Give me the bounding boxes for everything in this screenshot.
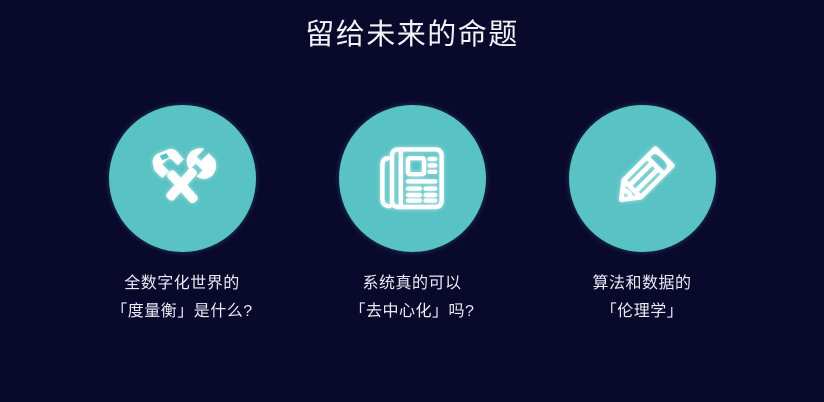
icon-circle-3[interactable] xyxy=(569,105,716,252)
card-caption-1: 全数字化世界的 「度量衡」是什么? xyxy=(111,270,252,326)
newspaper-icon xyxy=(372,139,452,219)
caption-line-2: 「度量衡」是什么? xyxy=(111,298,252,326)
card-caption-3: 算法和数据的 「伦理学」 xyxy=(592,270,691,326)
card-ethics[interactable]: 算法和数据的 「伦理学」 xyxy=(569,105,716,326)
slide-root: 留给未来的命题 xyxy=(0,0,824,402)
caption-line-1: 系统真的可以 xyxy=(350,270,475,298)
icon-circle-1[interactable] xyxy=(109,105,256,252)
caption-line-1: 算法和数据的 xyxy=(592,270,691,298)
card-metrics[interactable]: 全数字化世界的 「度量衡」是什么? xyxy=(109,105,256,326)
card-decentralization[interactable]: 系统真的可以 「去中心化」吗? xyxy=(339,105,486,326)
card-row: 全数字化世界的 「度量衡」是什么? xyxy=(0,105,824,326)
caption-line-1: 全数字化世界的 xyxy=(111,270,252,298)
card-caption-2: 系统真的可以 「去中心化」吗? xyxy=(350,270,475,326)
caption-line-2: 「伦理学」 xyxy=(592,298,691,326)
icon-circle-2[interactable] xyxy=(339,105,486,252)
pencil-icon xyxy=(599,136,685,222)
hammer-wrench-icon xyxy=(139,136,225,222)
caption-line-2: 「去中心化」吗? xyxy=(350,298,475,326)
page-title: 留给未来的命题 xyxy=(0,16,824,54)
